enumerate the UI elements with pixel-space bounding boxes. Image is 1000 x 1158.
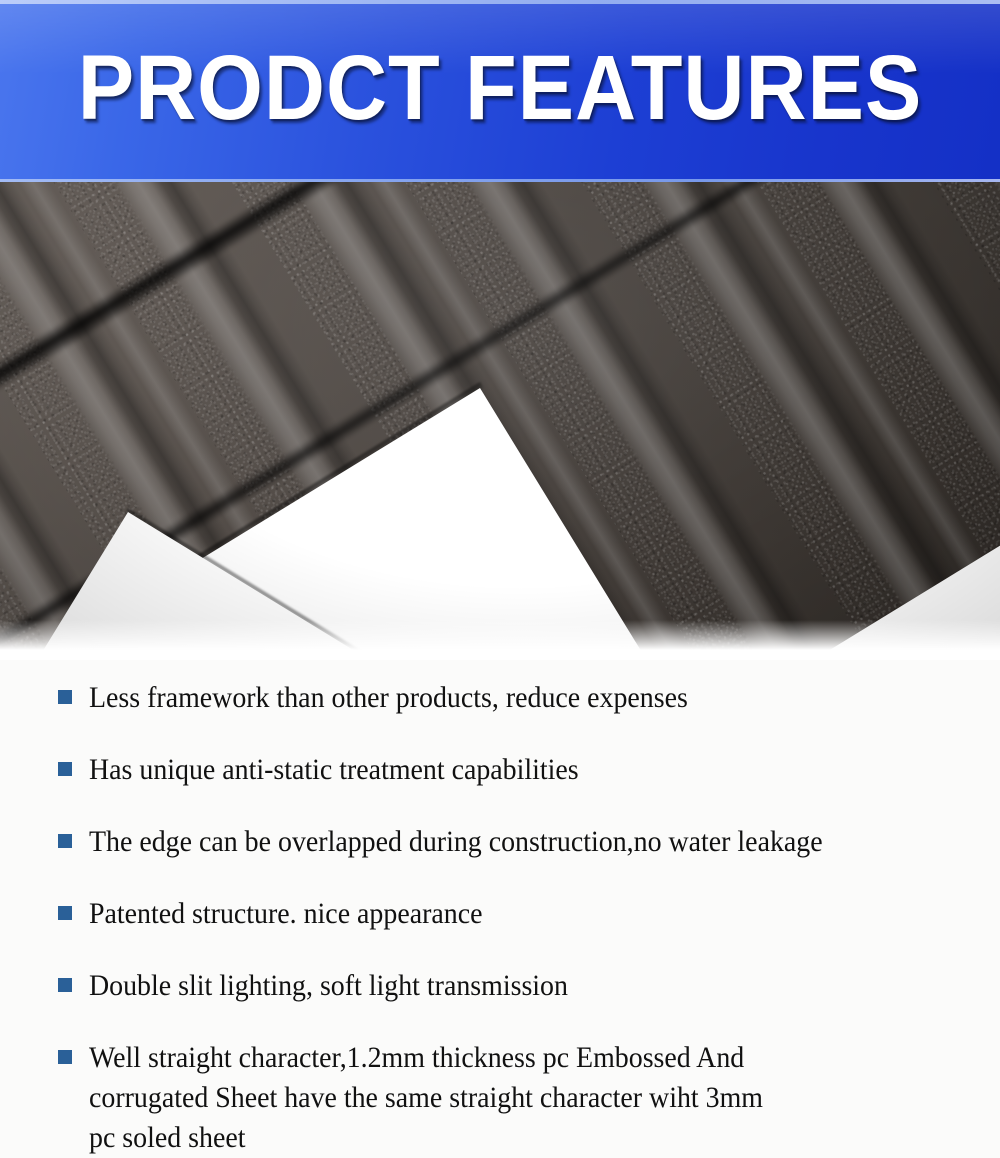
bullet-square-icon	[58, 1050, 72, 1064]
list-item: Double slit lighting, soft light transmi…	[58, 966, 604, 1006]
bullet-square-icon	[58, 978, 72, 992]
feature-text: Has unique anti-static treatment capabil…	[89, 750, 579, 790]
bullet-square-icon	[58, 834, 72, 848]
list-item: The edge can be overlapped during constr…	[58, 822, 878, 862]
page-header-banner: PRODCT FEATURES	[0, 0, 1000, 182]
product-photo	[0, 182, 1000, 660]
feature-text: Well straight character,1.2mm thickness …	[89, 1038, 763, 1158]
list-item: Has unique anti-static treatment capabil…	[58, 750, 615, 790]
photo-bottom-fade	[0, 620, 1000, 660]
page-title: PRODCT FEATURES	[40, 0, 960, 182]
feature-text: Less framework than other products, redu…	[89, 678, 688, 718]
list-item: Patented structure. nice appearance	[58, 894, 512, 934]
bullet-square-icon	[58, 762, 72, 776]
feature-text: Patented structure. nice appearance	[89, 894, 482, 934]
feature-text: The edge can be overlapped during constr…	[89, 822, 823, 862]
feature-list: Less framework than other products, redu…	[0, 660, 1000, 1150]
bullet-square-icon	[58, 690, 72, 704]
list-item: Well straight character,1.2mm thickness …	[58, 1038, 814, 1158]
feature-text: Double slit lighting, soft light transmi…	[89, 966, 568, 1006]
product-features-page: PRODCT FEATURES Less framework than othe…	[0, 0, 1000, 1150]
list-item: Less framework than other products, redu…	[58, 678, 733, 718]
bullet-square-icon	[58, 906, 72, 920]
